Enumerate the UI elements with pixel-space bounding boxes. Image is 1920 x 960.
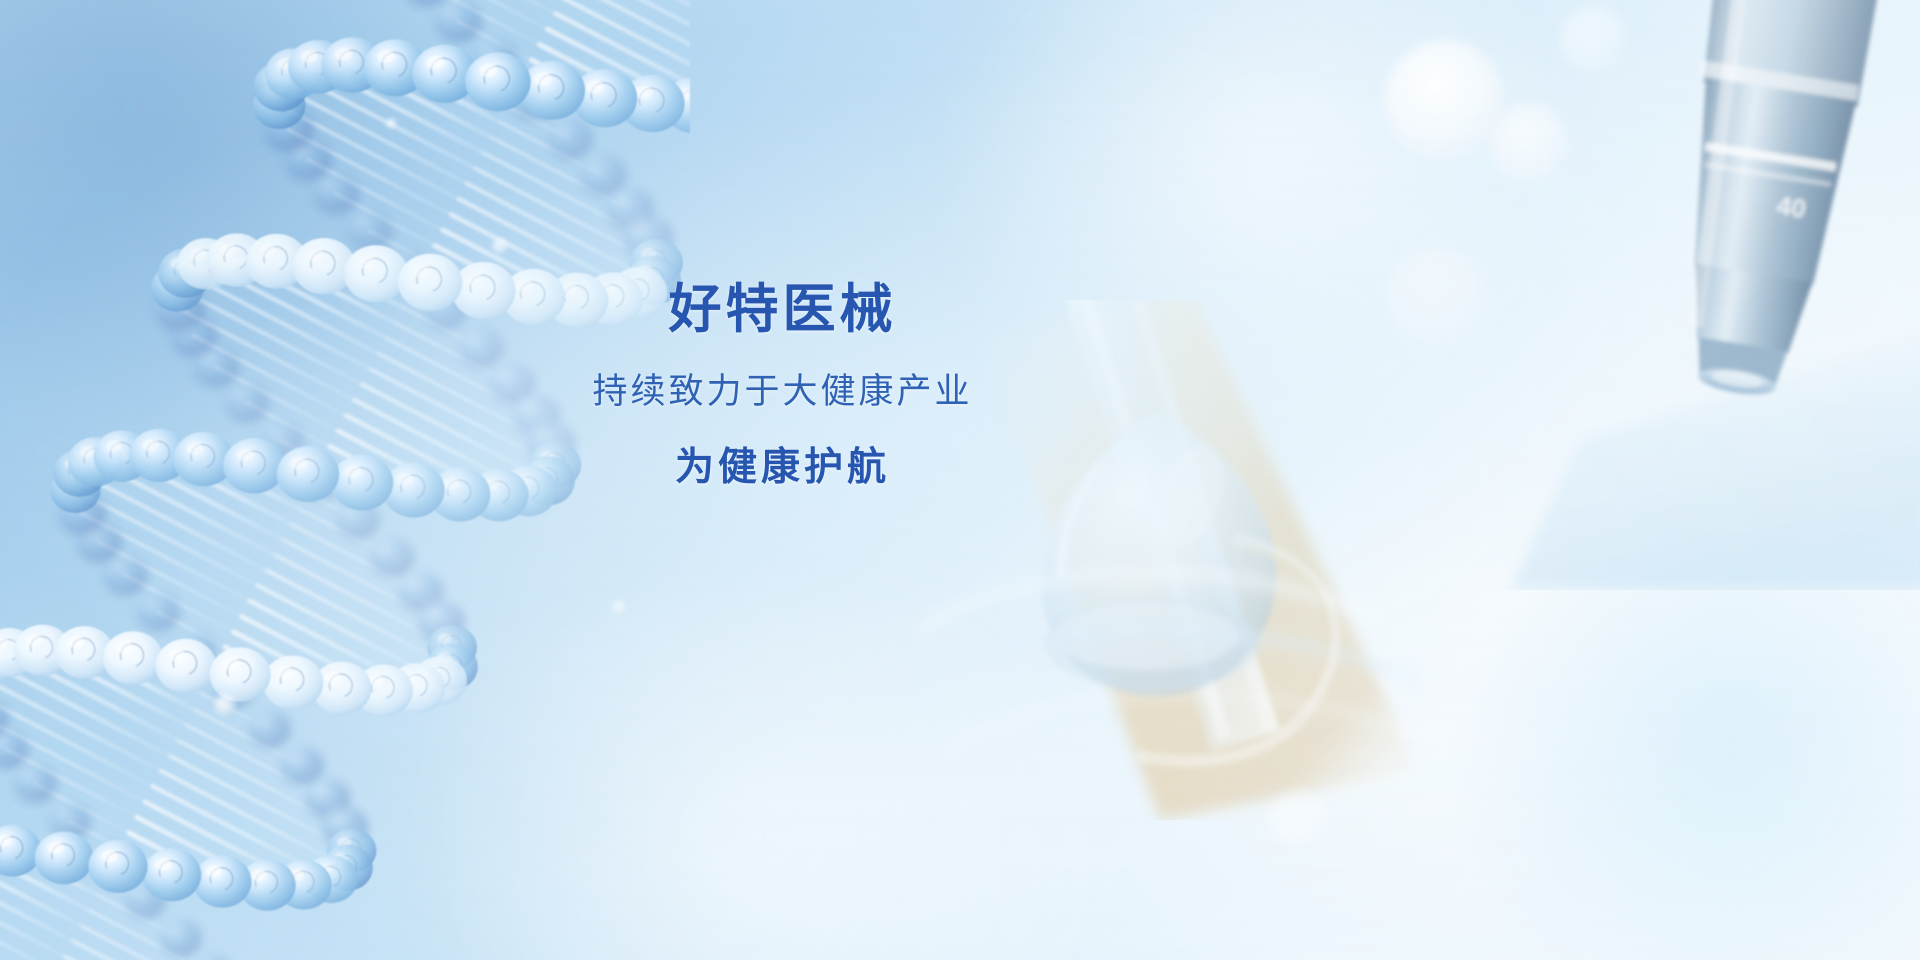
hero-banner: 40 — [0, 0, 1920, 960]
banner-tagline: 为健康护航 — [0, 448, 1565, 487]
banner-title: 好特医械 — [0, 283, 1565, 336]
banner-copy-block: 好特医械 持续致力于大健康产业 为健康护航 — [0, 283, 1565, 487]
scope-magnification-label: 40 — [1775, 190, 1808, 224]
banner-subtitle: 持续致力于大健康产业 — [0, 374, 1565, 409]
